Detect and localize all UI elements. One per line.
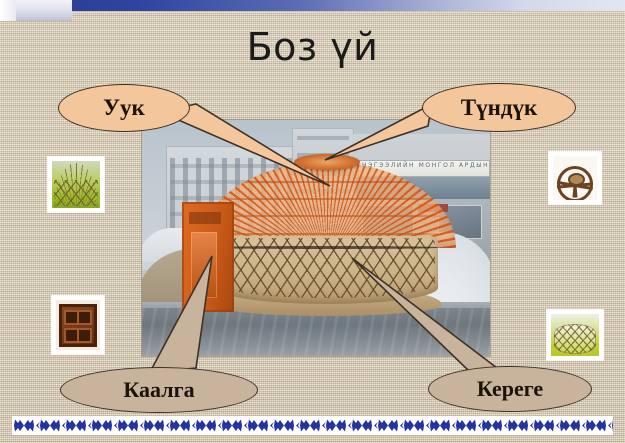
label-kaalga-text: Каалга [123,377,194,403]
kaalga-thumbnail-image [56,300,100,350]
slide-canvas: Боз үй НЭГЭЭЛИЙН МОНГОЛ АРДЫН [0,0,625,443]
label-uuk[interactable]: Уук [58,84,190,132]
label-tunduk-text: Түндүк [461,95,537,121]
kerege-lattice-shape [554,324,596,354]
label-kaalga[interactable]: Каалга [60,367,258,413]
tunduk-thumbnail [549,152,601,204]
ornament-pattern [12,416,613,435]
uuk-lattice-shape [54,180,98,206]
label-uuk-text: Уук [103,95,145,121]
label-tunduk[interactable]: Түндүк [422,83,576,132]
callout-tail-tunduk [325,104,432,160]
label-kerege[interactable]: Кереге [428,366,592,412]
uuk-thumbnail-image [52,161,100,208]
tunduk-thumbnail-image [553,156,597,200]
kerege-thumbnail [547,310,603,360]
label-kerege-text: Кереге [477,376,543,402]
kaalga-thumbnail [52,296,104,354]
kaalga-door-shape [59,304,97,347]
kerege-thumbnail-image [551,314,599,356]
callout-tail-kerege [352,258,497,372]
kyrgyz-ornament-border [12,416,613,435]
callout-tail-kaalga [150,256,212,372]
uuk-thumbnail [48,157,104,212]
tunduk-hub-shape [568,173,585,186]
